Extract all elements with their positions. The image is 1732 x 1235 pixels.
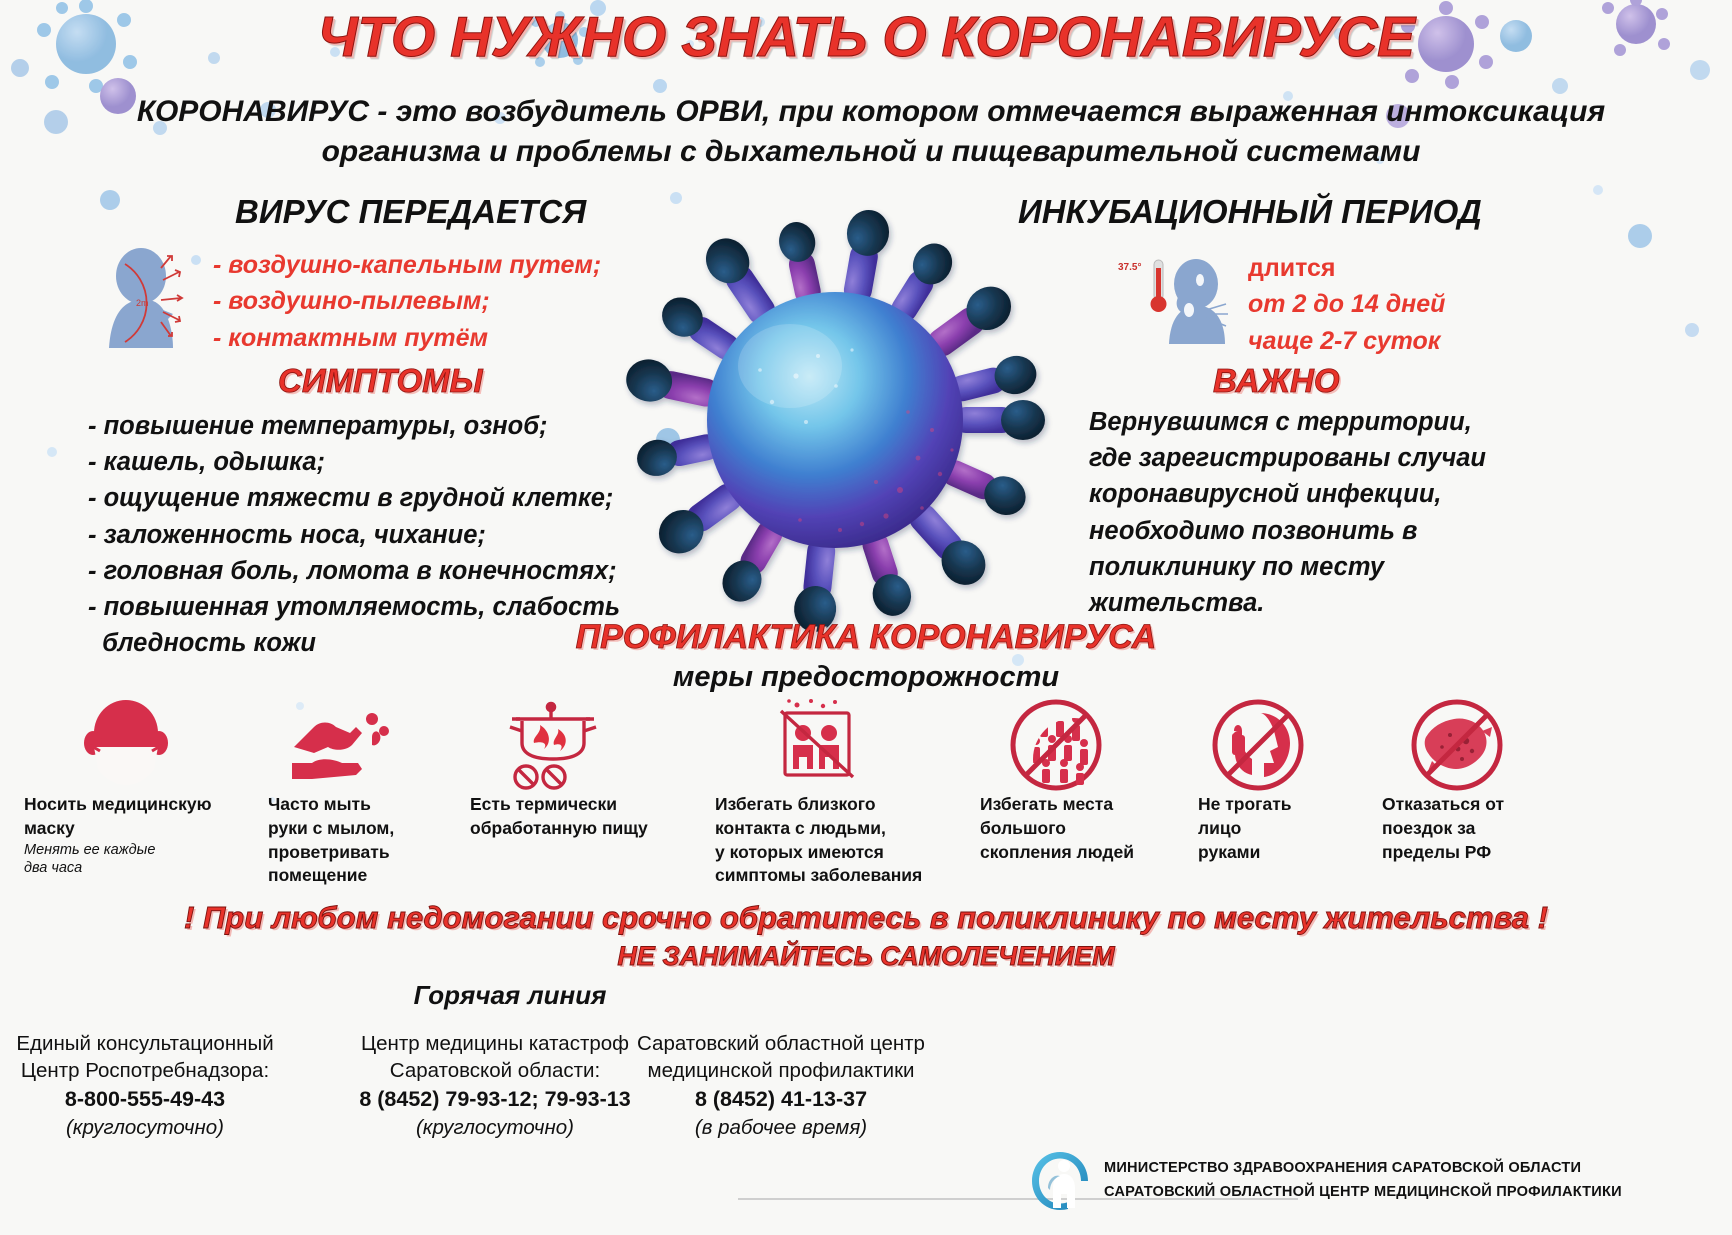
card-label: Избегать близкого контакта с людьми, у к… xyxy=(715,793,970,888)
no-touch-face-icon xyxy=(1208,697,1308,791)
washing-hands-icon xyxy=(286,701,396,789)
prophylaxis-card-mask: Носить медицинскую маску Менять ее кажды… xyxy=(24,697,254,878)
symptoms-heading: СИМПТОМЫ xyxy=(278,362,483,400)
symptom-item: - головная боль, ломота в конечностях; xyxy=(88,553,620,589)
important-heading: ВАЖНО xyxy=(1213,362,1340,400)
coronavirus-illustration xyxy=(600,190,1070,650)
card-glyph xyxy=(268,697,468,793)
cooking-pot-icon xyxy=(498,697,608,793)
transmission-heading: ВИРУС ПЕРЕДАЕТСЯ xyxy=(235,193,586,231)
no-crowd-icon xyxy=(1006,697,1106,791)
symptom-item: - повышение температуры, озноб; xyxy=(88,408,620,444)
prophylaxis-heading: ПРОФИЛАКТИКА КОРОНАВИРУСА xyxy=(0,618,1732,657)
contact-name: Единый консультационный Центр Роспотребн… xyxy=(0,1030,290,1085)
important-line: поликлинику по месту xyxy=(1089,549,1649,585)
lead-paragraph: КОРОНАВИРУС - это возбудитель ОРВИ, при … xyxy=(70,92,1672,172)
transmission-item: - воздушно-пылевым; xyxy=(213,283,601,319)
thermometer-value: 37.5° xyxy=(1118,262,1141,273)
card-label: Есть термически обработанную пищу xyxy=(470,793,685,841)
avoid-sick-contact-icon xyxy=(767,697,867,791)
card-label: Часто мыть руки с мылом, проветривать по… xyxy=(268,793,468,888)
prophylaxis-card-avoid-contact: Избегать близкого контакта с людьми, у к… xyxy=(715,697,970,888)
warning-line-2: НЕ ЗАНИМАЙТЕСЬ САМОЛЕЧЕНИЕМ xyxy=(0,941,1732,972)
prophylaxis-subheading: меры предосторожности xyxy=(0,661,1732,694)
contact-phone[interactable]: 8-800-555-49-43 xyxy=(0,1085,290,1114)
prophylaxis-card-wash-hands: Часто мыть руки с мылом, проветривать по… xyxy=(268,697,468,888)
important-line: где зарегистрированы случаи xyxy=(1089,440,1649,476)
important-line: необходимо позвонить в xyxy=(1089,513,1649,549)
card-glyph xyxy=(1382,697,1572,793)
card-sublabel: Менять ее каждые два часа xyxy=(24,841,254,879)
important-line: жительства. xyxy=(1089,585,1649,621)
symptom-item: - кашель, одышка; xyxy=(88,444,620,480)
warning-line-1: ! При любом недомогании срочно обратитес… xyxy=(0,900,1732,936)
face-mask-icon xyxy=(84,697,168,789)
ministry-block: МИНИСТЕРСТВО ЗДРАВООХРАНЕНИЯ САРАТОВСКОЙ… xyxy=(1030,1150,1622,1212)
thermometer-fever-icon: 37.5° xyxy=(1110,250,1240,350)
distance-label: 2m xyxy=(136,298,149,308)
card-glyph xyxy=(715,697,970,793)
contact-phone[interactable]: 8 (8452) 41-13-37 xyxy=(596,1085,966,1114)
card-label: Избегать места большого скопления людей xyxy=(980,793,1180,864)
card-glyph xyxy=(980,697,1180,793)
card-label: Отказаться от поездок за пределы РФ xyxy=(1382,793,1572,864)
page-title: ЧТО НУЖНО ЗНАТЬ О КОРОНАВИРУСЕ xyxy=(0,4,1732,70)
card-label: Носить медицинскую маску xyxy=(24,793,254,841)
important-line: коронавирусной инфекции, xyxy=(1089,476,1649,512)
important-text: Вернувшимся с территории, где зарегистри… xyxy=(1089,404,1649,621)
card-label: Не трогать лицо руками xyxy=(1198,793,1368,864)
important-line: Вернувшимся с территории, xyxy=(1089,404,1649,440)
transmission-item: - контактным путём xyxy=(213,320,601,356)
prophylaxis-card-cooked-food: Есть термически обработанную пищу xyxy=(470,697,685,841)
no-travel-abroad-icon xyxy=(1402,697,1512,791)
ministry-line-2: САРАТОВСКИЙ ОБЛАСТНОЙ ЦЕНТР МЕДИЦИНСКОЙ … xyxy=(1104,1181,1622,1205)
prophylaxis-cards: Носить медицинскую маску Менять ее кажды… xyxy=(0,697,1732,912)
ministry-health-logo xyxy=(1030,1150,1090,1212)
symptom-item: - ощущение тяжести в грудной клетке; xyxy=(88,480,620,516)
prophylaxis-card-no-travel: Отказаться от поездок за пределы РФ xyxy=(1382,697,1572,864)
contact-name: Саратовский областной центр медицинской … xyxy=(596,1030,966,1085)
incubation-heading: ИНКУБАЦИОННЫЙ ПЕРИОД xyxy=(1018,193,1482,231)
contact-note: (круглосуточно) xyxy=(0,1114,290,1141)
prophylaxis-card-no-touch-face: Не трогать лицо руками xyxy=(1198,697,1368,864)
card-glyph xyxy=(1198,697,1368,793)
contact-block-prevention-center: Саратовский областной центр медицинской … xyxy=(596,1030,966,1141)
card-glyph xyxy=(24,697,254,793)
poster-root: ЧТО НУЖНО ЗНАТЬ О КОРОНАВИРУСЕ КОРОНАВИР… xyxy=(0,0,1732,1235)
ministry-line-1: МИНИСТЕРСТВО ЗДРАВООХРАНЕНИЯ САРАТОВСКОЙ… xyxy=(1104,1157,1622,1181)
transmission-item: - воздушно-капельным путем; xyxy=(213,247,601,283)
card-glyph xyxy=(470,697,685,793)
incubation-line: длится xyxy=(1248,250,1445,286)
hotline-heading: Горячая линия xyxy=(330,980,690,1011)
incubation-lines: длится от 2 до 14 дней чаще 2-7 суток xyxy=(1248,250,1445,359)
prophylaxis-card-no-crowd: Избегать места большого скопления людей xyxy=(980,697,1180,864)
symptom-item: - заложенность носа, чихание; xyxy=(88,517,620,553)
ministry-text: МИНИСТЕРСТВО ЗДРАВООХРАНЕНИЯ САРАТОВСКОЙ… xyxy=(1104,1157,1622,1204)
contact-block-rospotrebnadzor: Единый консультационный Центр Роспотребн… xyxy=(0,1030,290,1141)
incubation-line: от 2 до 14 дней xyxy=(1248,286,1445,322)
incubation-line: чаще 2-7 суток xyxy=(1248,323,1445,359)
transmission-list: - воздушно-капельным путем; - воздушно-п… xyxy=(213,247,601,356)
contact-note: (в рабочее время) xyxy=(596,1114,966,1141)
head-distance-2m-icon: 2m xyxy=(95,244,217,352)
